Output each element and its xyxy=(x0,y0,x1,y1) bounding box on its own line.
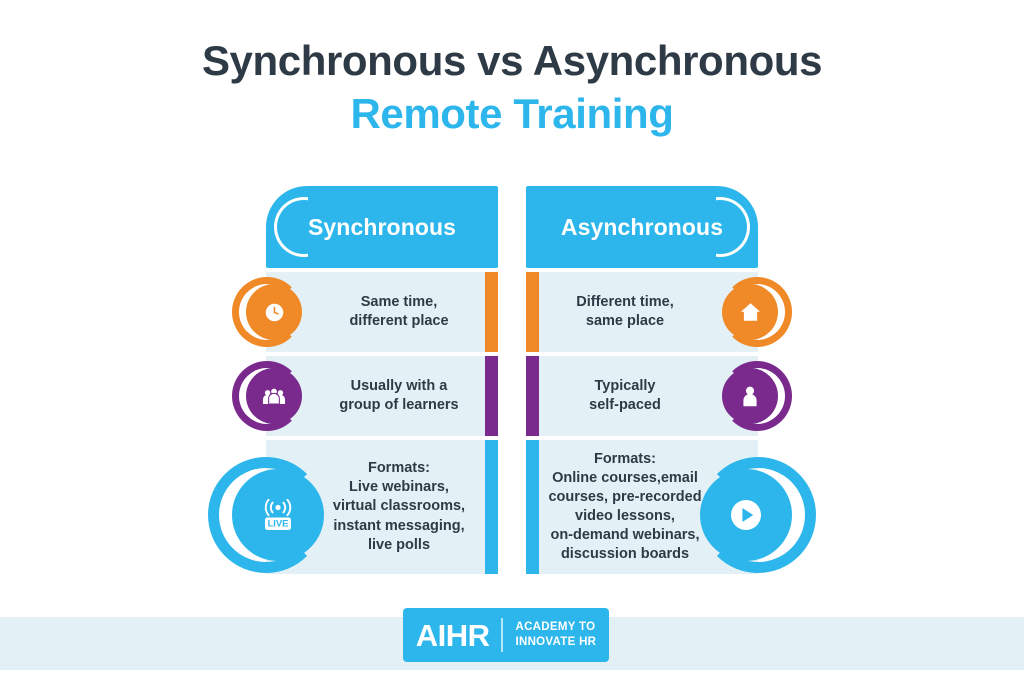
single-person-icon xyxy=(742,386,758,407)
badge-group xyxy=(232,361,302,431)
badge-clock xyxy=(232,277,302,347)
svg-text:LIVE: LIVE xyxy=(268,518,289,529)
badge-live: LIVE xyxy=(208,457,324,573)
page-title: Synchronous vs Asynchronous Remote Train… xyxy=(0,38,1024,137)
logo-tagline: ACADEMY TO INNOVATE HR xyxy=(515,620,596,649)
clock-icon xyxy=(264,302,285,323)
row-accent-bar xyxy=(526,356,539,436)
column-header-asynchronous: Asynchronous xyxy=(526,186,758,268)
formats-label: Formats: xyxy=(540,450,710,469)
badge-house xyxy=(722,277,792,347)
badge-disc xyxy=(722,284,778,340)
logo-divider xyxy=(501,618,503,652)
logo-tagline-line-2: INNOVATE HR xyxy=(515,636,596,648)
badge-disc xyxy=(700,469,792,561)
badge-disc xyxy=(722,368,778,424)
formats-label: Formats: xyxy=(314,459,484,478)
group-of-people-icon xyxy=(262,386,286,406)
live-broadcast-icon: LIVE xyxy=(261,499,295,531)
house-icon xyxy=(740,302,761,322)
column-asynchronous: Asynchronous Different time, same place … xyxy=(526,186,758,574)
formats-list: Online courses,email courses, pre-record… xyxy=(548,470,701,563)
logo-tagline-line-1: ACADEMY TO xyxy=(515,621,595,633)
aihr-logo: AIHR ACADEMY TO INNOVATE HR xyxy=(403,608,609,662)
column-synchronous: Synchronous Same time, different place U… xyxy=(266,186,498,574)
row-accent-bar xyxy=(485,272,498,352)
logo-wordmark: AIHR xyxy=(416,620,490,651)
play-button-icon xyxy=(729,498,763,532)
row-accent-bar xyxy=(526,272,539,352)
comparison-board: Synchronous Same time, different place U… xyxy=(198,186,826,574)
badge-disc xyxy=(246,284,302,340)
badge-disc xyxy=(246,368,302,424)
page-title-line-2: Remote Training xyxy=(0,91,1024,136)
row-accent-bar xyxy=(485,440,498,574)
column-header-label: Asynchronous xyxy=(561,214,723,241)
column-header-label: Synchronous xyxy=(308,214,456,241)
badge-play xyxy=(700,457,816,573)
formats-list: Live webinars, virtual classrooms, insta… xyxy=(333,479,465,552)
badge-disc: LIVE xyxy=(232,469,324,561)
column-header-synchronous: Synchronous xyxy=(266,186,498,268)
badge-person xyxy=(722,361,792,431)
row-accent-bar xyxy=(485,356,498,436)
page-title-line-1: Synchronous vs Asynchronous xyxy=(0,38,1024,83)
row-accent-bar xyxy=(526,440,539,574)
